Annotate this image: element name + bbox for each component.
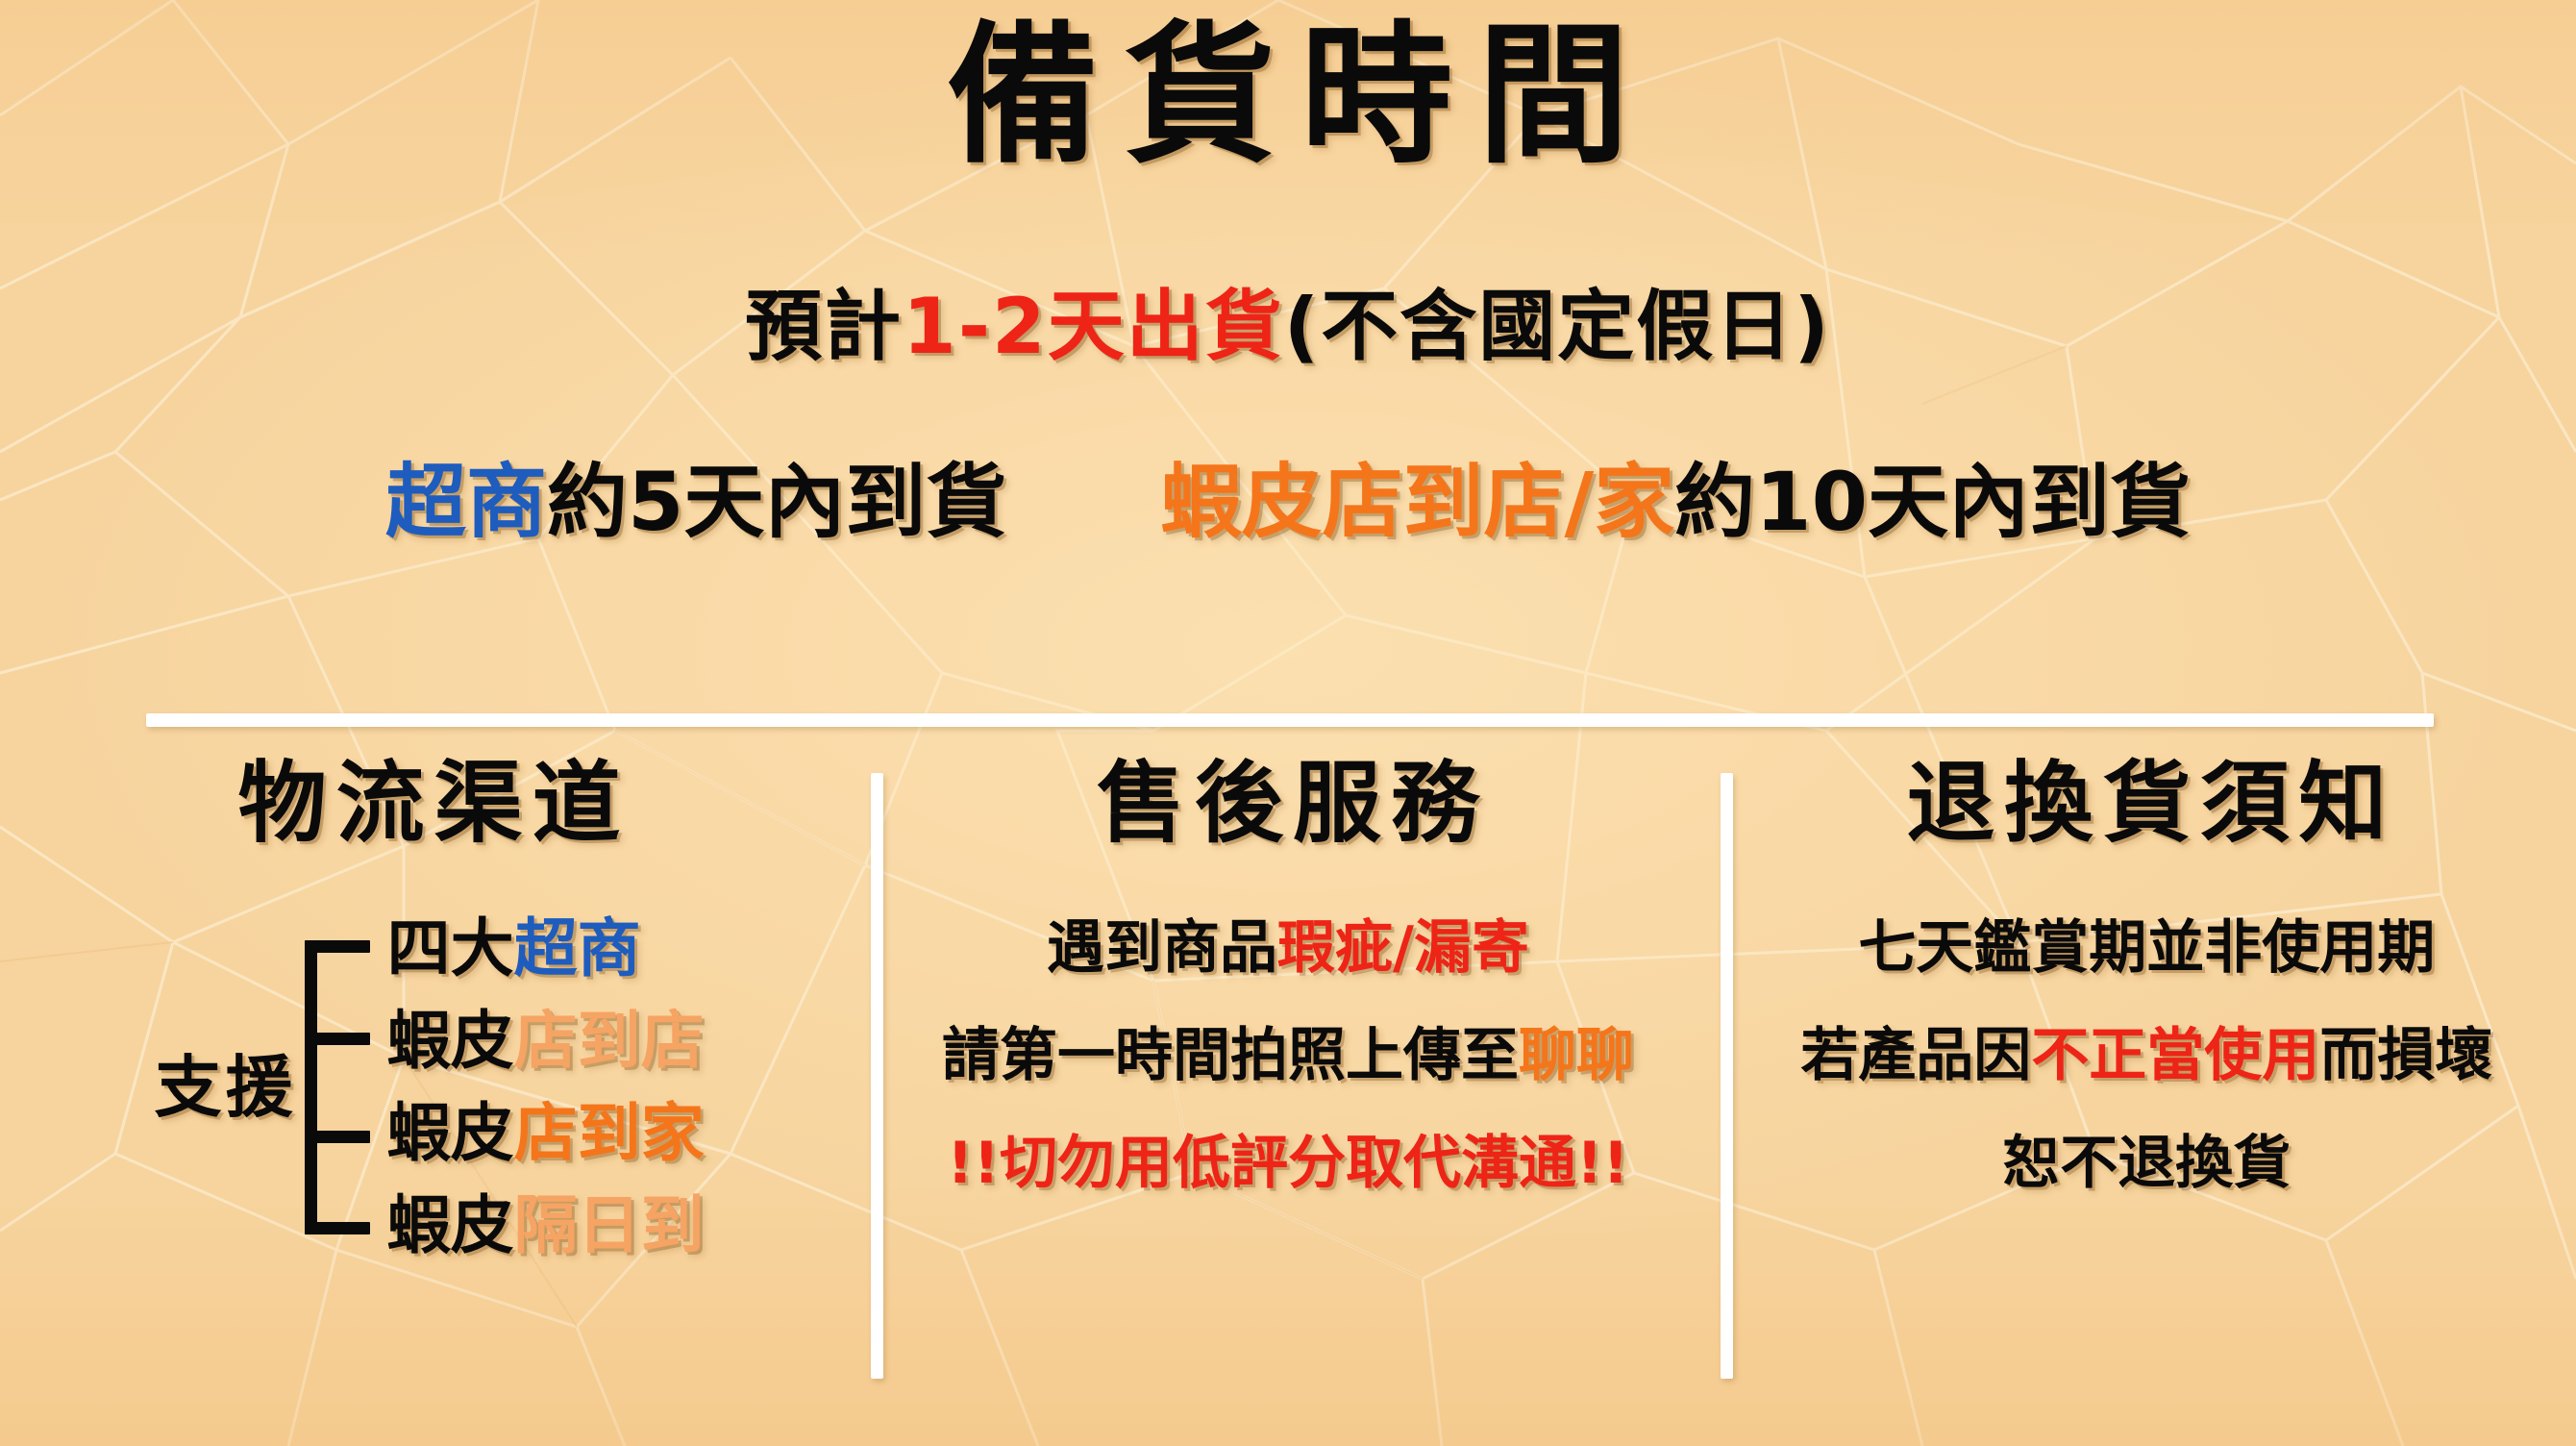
text-segment: 恕不退換貨 <box>2002 1130 2291 1197</box>
bracket-graphic <box>305 911 376 1263</box>
text-segment: 聊聊 <box>1519 1022 1634 1089</box>
text-segment: 若產品因 <box>1800 1022 2031 1089</box>
channel-item: 四大超商 <box>387 911 705 986</box>
column-logistics: 物流渠道 支援 四大超商 <box>0 748 858 1402</box>
support-label: 支援 <box>155 1054 297 1121</box>
page-title: 備貨時間 <box>0 17 2576 177</box>
delivery-duration-label: 約5天內到貨 <box>547 455 1006 549</box>
channel-item: 蝦皮店到家 <box>387 1096 705 1171</box>
returns-line: 七天鑑賞期並非使用期 <box>1718 919 2576 977</box>
channel-suffix: 超商 <box>514 911 641 985</box>
after-sales-body: 遇到商品瑕疵/漏寄 請第一時間拍照上傳至聊聊 !!切勿用低評分取代溝通!! <box>858 919 1717 1192</box>
bracket-tick <box>305 940 370 953</box>
subtitle-highlight: 1-2天出貨 <box>903 282 1284 371</box>
column-heading-logistics: 物流渠道 <box>0 760 858 848</box>
bracket-spine <box>305 940 317 1234</box>
channel-prefix: 蝦皮 <box>387 1188 514 1262</box>
delivery-item-shopee: 蝦皮店到店/家約10天內到貨 <box>1160 461 2191 542</box>
channel-item: 蝦皮隔日到 <box>387 1188 705 1263</box>
channel-item: 蝦皮店到店 <box>387 1004 705 1079</box>
bracket-tick <box>305 1131 370 1143</box>
info-columns: 物流渠道 支援 四大超商 <box>0 748 2576 1402</box>
subtitle-prefix: 預計 <box>745 282 903 371</box>
column-heading-after-sales: 售後服務 <box>858 760 1717 848</box>
channel-list: 四大超商 蝦皮店到店 蝦皮店到家 蝦皮隔日到 <box>387 911 705 1263</box>
column-divider-right <box>1721 773 1733 1379</box>
column-returns: 退換貨須知 七天鑑賞期並非使用期 若產品因不正當使用而損壞 恕不退換貨 <box>1718 748 2576 1402</box>
channel-suffix: 店到店 <box>514 1004 705 1078</box>
text-segment: 而損壞 <box>2319 1022 2492 1089</box>
text-segment: 瑕疵/漏寄 <box>1277 914 1529 982</box>
text-segment: 七天鑑賞期並非使用期 <box>1858 914 2435 982</box>
column-after-sales: 售後服務 遇到商品瑕疵/漏寄 請第一時間拍照上傳至聊聊 !!切勿用低評分取代溝通… <box>858 748 1717 1402</box>
text-segment: 遇到商品 <box>1047 914 1277 982</box>
delivery-carrier-label: 超商 <box>385 455 547 549</box>
after-sales-line: 請第一時間拍照上傳至聊聊 <box>858 1027 1717 1084</box>
returns-body: 七天鑑賞期並非使用期 若產品因不正當使用而損壞 恕不退換貨 <box>1718 919 2576 1192</box>
bracket-tick <box>305 1222 370 1234</box>
delivery-carrier-label: 蝦皮店到店/家 <box>1160 455 1674 549</box>
delivery-duration-label: 約10天內到貨 <box>1674 455 2191 549</box>
column-heading-returns: 退換貨須知 <box>1718 760 2576 848</box>
returns-line: 恕不退換貨 <box>1718 1134 2576 1192</box>
channel-suffix: 店到家 <box>514 1096 705 1170</box>
channel-prefix: 蝦皮 <box>387 1096 514 1170</box>
channel-prefix: 四大 <box>387 911 514 985</box>
text-segment: 請第一時間拍照上傳至 <box>942 1022 1519 1089</box>
shipping-info-poster: 備貨時間 預計1-2天出貨(不含國定假日) 超商約5天內到貨 蝦皮店到店/家約1… <box>0 0 2576 1446</box>
shipping-eta-subtitle: 預計1-2天出貨(不含國定假日) <box>0 288 2576 365</box>
channel-prefix: 蝦皮 <box>387 1004 514 1078</box>
channel-suffix: 隔日到 <box>514 1188 705 1262</box>
after-sales-line: !!切勿用低評分取代溝通!! <box>858 1134 1717 1192</box>
returns-line: 若產品因不正當使用而損壞 <box>1718 1027 2576 1084</box>
bracket-tick <box>305 1033 370 1045</box>
delivery-estimate-row: 超商約5天內到貨 蝦皮店到店/家約10天內到貨 <box>0 461 2576 542</box>
after-sales-line: 遇到商品瑕疵/漏寄 <box>858 919 1717 977</box>
subtitle-suffix: (不含國定假日) <box>1284 282 1831 371</box>
delivery-item-convenience-store: 超商約5天內到貨 <box>385 461 1006 542</box>
column-divider-left <box>871 773 883 1379</box>
horizontal-divider <box>146 713 2434 727</box>
supported-channels-block: 支援 四大超商 蝦皮店到店 <box>0 911 858 1263</box>
text-segment: 不正當使用 <box>2031 1022 2319 1089</box>
text-segment: !!切勿用低評分取代溝通!! <box>947 1130 1628 1197</box>
